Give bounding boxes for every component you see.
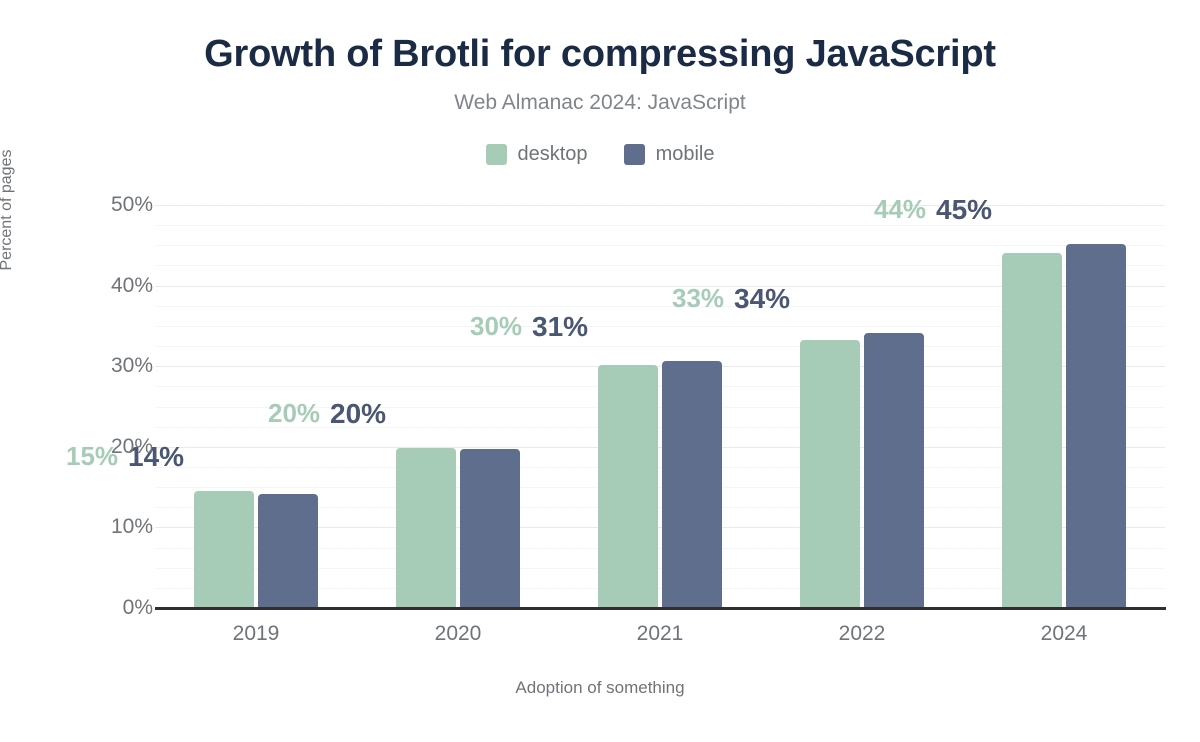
- bar-label-mobile-2022: 34%: [734, 285, 790, 313]
- x-tick-label: 2021: [637, 622, 684, 646]
- bar-desktop-2020[interactable]: [396, 448, 456, 608]
- bar-label-desktop-2024: 44%: [874, 196, 926, 222]
- y-tick-label: 10%: [33, 515, 153, 539]
- chart-title: Growth of Brotli for compressing JavaScr…: [0, 33, 1200, 76]
- bar-group-2022: [800, 205, 924, 608]
- bar-mobile-2022[interactable]: [864, 333, 924, 608]
- legend-label-mobile: mobile: [656, 143, 715, 166]
- y-tick-label: 30%: [33, 354, 153, 378]
- x-axis-line: [155, 607, 1166, 610]
- bar-group-2020: [396, 205, 520, 608]
- bar-group-2021: [598, 205, 722, 608]
- bar-chart: Growth of Brotli for compressing JavaScr…: [0, 0, 1200, 742]
- bar-label-mobile-2024: 45%: [936, 196, 992, 224]
- legend-item-desktop[interactable]: desktop: [486, 143, 588, 166]
- bar-label-desktop-2020: 20%: [268, 400, 320, 426]
- bar-desktop-2019[interactable]: [194, 491, 254, 608]
- legend-item-mobile[interactable]: mobile: [624, 143, 715, 166]
- bar-label-mobile-2020: 20%: [330, 400, 386, 428]
- chart-subtitle: Web Almanac 2024: JavaScript: [0, 91, 1200, 115]
- x-tick-label: 2024: [1041, 622, 1088, 646]
- y-tick-label: 50%: [33, 193, 153, 217]
- x-axis-title: Adoption of something: [0, 678, 1200, 698]
- bar-group-2024: [1002, 205, 1126, 608]
- y-tick-label: 0%: [33, 596, 153, 620]
- chart-legend: desktopmobile: [0, 143, 1200, 166]
- bar-label-mobile-2021: 31%: [532, 313, 588, 341]
- bar-desktop-2024[interactable]: [1002, 253, 1062, 608]
- plot-area: 15%14%20%20%30%31%33%34%44%45%: [155, 205, 1165, 608]
- bar-mobile-2024[interactable]: [1066, 244, 1126, 608]
- y-tick-label: 20%: [33, 435, 153, 459]
- y-axis-title: Percent of pages: [0, 105, 16, 315]
- bar-mobile-2019[interactable]: [258, 494, 318, 608]
- x-tick-label: 2019: [233, 622, 280, 646]
- bar-desktop-2022[interactable]: [800, 340, 860, 608]
- x-tick-label: 2020: [435, 622, 482, 646]
- legend-swatch-desktop: [486, 144, 507, 165]
- bar-label-desktop-2021: 30%: [470, 313, 522, 339]
- legend-label-desktop: desktop: [518, 143, 588, 166]
- bar-label-desktop-2022: 33%: [672, 285, 724, 311]
- bar-mobile-2021[interactable]: [662, 361, 722, 608]
- y-tick-label: 40%: [33, 274, 153, 298]
- bar-mobile-2020[interactable]: [460, 449, 520, 608]
- legend-swatch-mobile: [624, 144, 645, 165]
- x-tick-label: 2022: [839, 622, 886, 646]
- bar-desktop-2021[interactable]: [598, 365, 658, 608]
